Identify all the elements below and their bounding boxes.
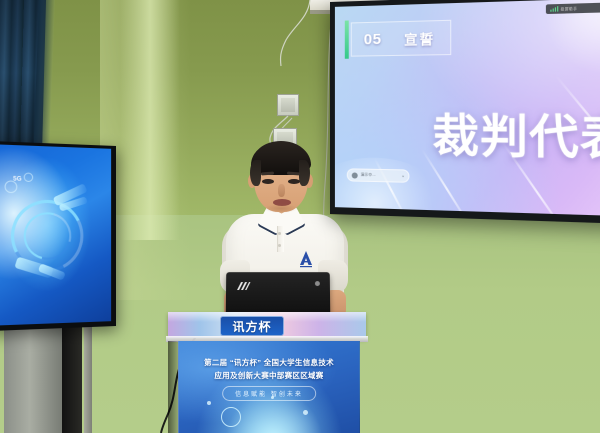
podium-graphic-dot-c (303, 410, 308, 415)
slide-accent-bar (345, 20, 349, 58)
podium-title-line-2: 应用及创新大赛中部赛区区域赛 (179, 370, 359, 381)
signal-bars-icon (550, 6, 558, 12)
tv-bubble-b (24, 173, 33, 183)
podium-front-panel: 第二届 “讯方杯” 全国大学生信息技术 应用及创新大赛中部赛区区域赛 信息赋能 … (178, 341, 360, 433)
podium-graphic-ring (221, 407, 241, 427)
laptop-brand-logo-icon (235, 280, 251, 292)
shirt-button-top (278, 232, 281, 235)
hair-side-right (299, 160, 310, 186)
slide-main-title: 裁判代表宣 (432, 98, 600, 169)
slide-subtitle: 宣誓 (404, 28, 435, 48)
close-icon[interactable]: × (402, 173, 404, 178)
hair-side-left (250, 160, 261, 186)
tv-screen-content: 5G (0, 144, 111, 326)
laptop-indicator-dot (315, 281, 320, 286)
eye-left (262, 179, 274, 184)
projection-screen[interactable]: 05 宣誓 裁判代表宣 投屏助手 演示中… × (330, 0, 600, 224)
junction-box-upper-inner (281, 98, 295, 112)
podium-top-banner: 讯方杯 (168, 312, 366, 338)
tv-5g-label: 5G (13, 176, 22, 182)
presentation-toolbar[interactable]: 演示中… × (347, 168, 410, 183)
tv-stand-post (84, 318, 92, 433)
shirt-button-bottom (278, 244, 281, 247)
slide-number: 05 (352, 30, 404, 48)
presentation-status-text: 演示中… (361, 173, 376, 178)
chest-logo-icon (298, 250, 314, 268)
podium-brand-logo: 讯方杯 (220, 316, 284, 336)
nose (278, 184, 285, 197)
shirt-placket (277, 226, 284, 252)
slide-header: 05 宣誓 (351, 20, 451, 57)
eye-right (288, 179, 300, 184)
record-dot-icon (352, 172, 358, 178)
chin-shadow (264, 204, 298, 213)
cast-status-text: 投屏助手 (561, 6, 578, 12)
podium-laptop[interactable] (226, 272, 331, 316)
podium-title-line-1: 第二届 “讯方杯” 全国大学生信息技术 (179, 357, 359, 368)
screen-cast-status-badge[interactable]: 投屏助手 (546, 3, 600, 14)
podium-graphic-dot-a (207, 401, 211, 405)
slide-content: 05 宣誓 裁判代表宣 投屏助手 演示中… × (335, 0, 600, 216)
podium-graphic-dot-b (271, 396, 274, 399)
conference-room-scene: 5G (0, 0, 600, 433)
podium-brand-text: 讯方杯 (232, 318, 271, 335)
wall-mounted-tv[interactable]: 5G (0, 141, 116, 331)
